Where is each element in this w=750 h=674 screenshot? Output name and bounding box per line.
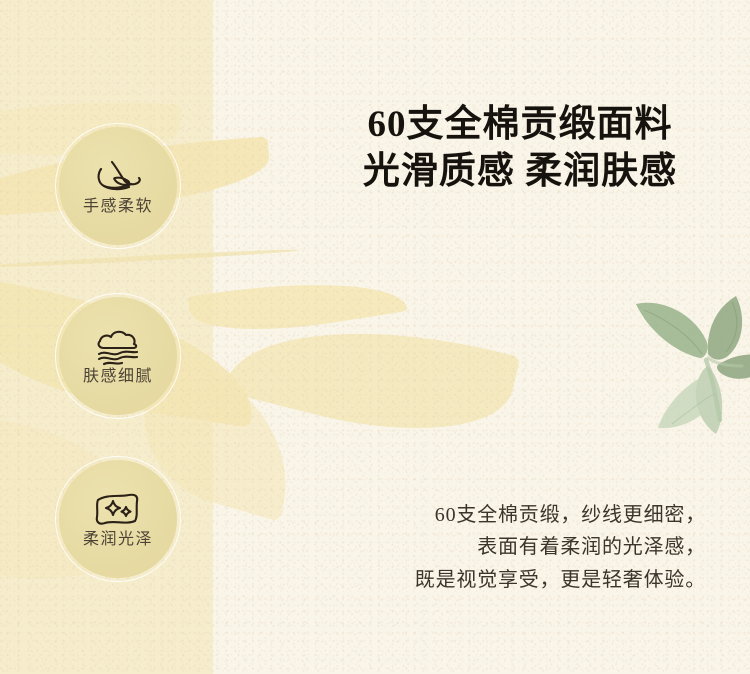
badge-label: 肤感细腻 [83,369,153,385]
badge-label: 柔润光泽 [83,532,153,548]
promo-banner: 手感柔软 肤感细腻 [0,0,750,674]
paragraph-line-1: 60支全棉贡缎，纱线更细密， [300,499,706,531]
headline-line-1: 60支全棉贡缎面料 [320,101,720,148]
feature-badge-fine-skin-feel[interactable]: 肤感细腻 [59,297,177,415]
headline-line-2: 光滑质感 柔润肤感 [320,148,720,195]
soft-hand-icon [91,157,145,197]
headline: 60支全棉贡缎面料 光滑质感 柔润肤感 [320,101,720,196]
paragraph-line-3: 既是视觉享受，更是轻奢体验。 [300,564,706,596]
paragraph-line-2: 表面有着柔润的光泽感， [300,531,706,563]
badge-label: 手感柔软 [83,199,153,215]
description-paragraph: 60支全棉贡缎，纱线更细密， 表面有着柔润的光泽感， 既是视觉享受，更是轻奢体验… [300,499,706,596]
cloud-waves-icon [91,327,145,367]
feature-badge-soft-sheen[interactable]: 柔润光泽 [59,460,177,578]
feature-badge-soft-touch[interactable]: 手感柔软 [59,127,177,245]
sparkle-fabric-icon [91,490,145,530]
